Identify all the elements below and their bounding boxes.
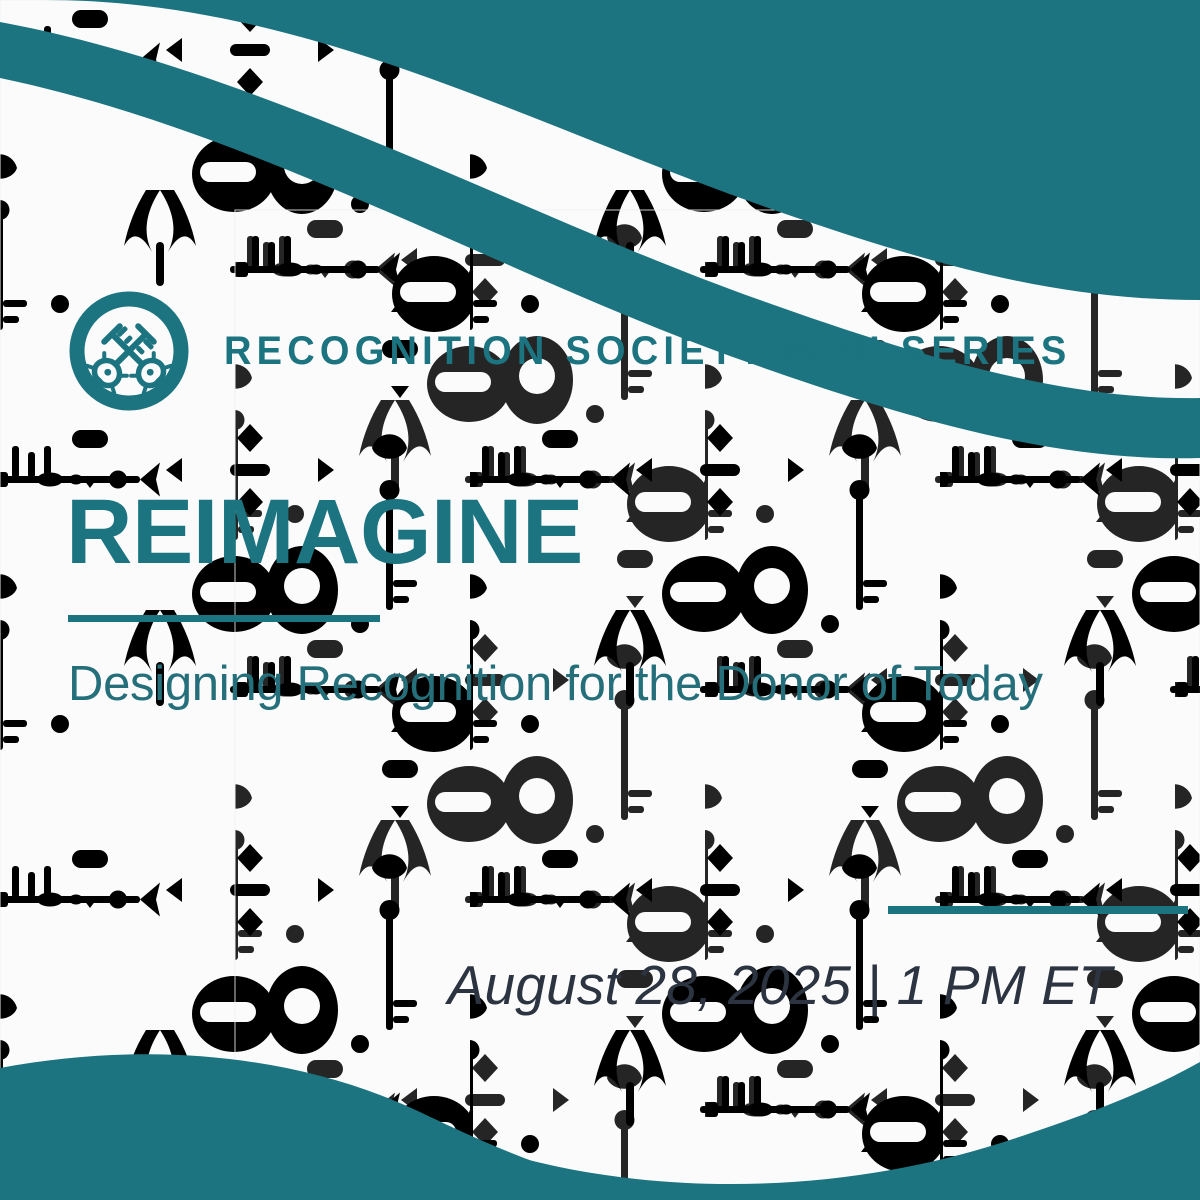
brand-lockup: RECOGNITION SOCIETY MINI SERIES xyxy=(68,290,1116,412)
page-title: REIMAGINE xyxy=(66,486,583,578)
event-date-time: August 28, 2025 | 1 PM ET xyxy=(448,958,1112,1013)
crossed-keys-circle-icon xyxy=(68,290,190,412)
poster-content: RECOGNITION SOCIETY MINI SERIES REIMAGIN… xyxy=(0,0,1200,1200)
series-eyebrow: RECOGNITION SOCIETY MINI SERIES xyxy=(224,331,1071,371)
page-subtitle: Designing Recognition for the Donor of T… xyxy=(68,657,1043,712)
date-divider-rule xyxy=(888,906,1188,914)
title-divider-rule xyxy=(68,615,380,622)
promotional-poster: RECOGNITION SOCIETY MINI SERIES REIMAGIN… xyxy=(0,0,1200,1200)
